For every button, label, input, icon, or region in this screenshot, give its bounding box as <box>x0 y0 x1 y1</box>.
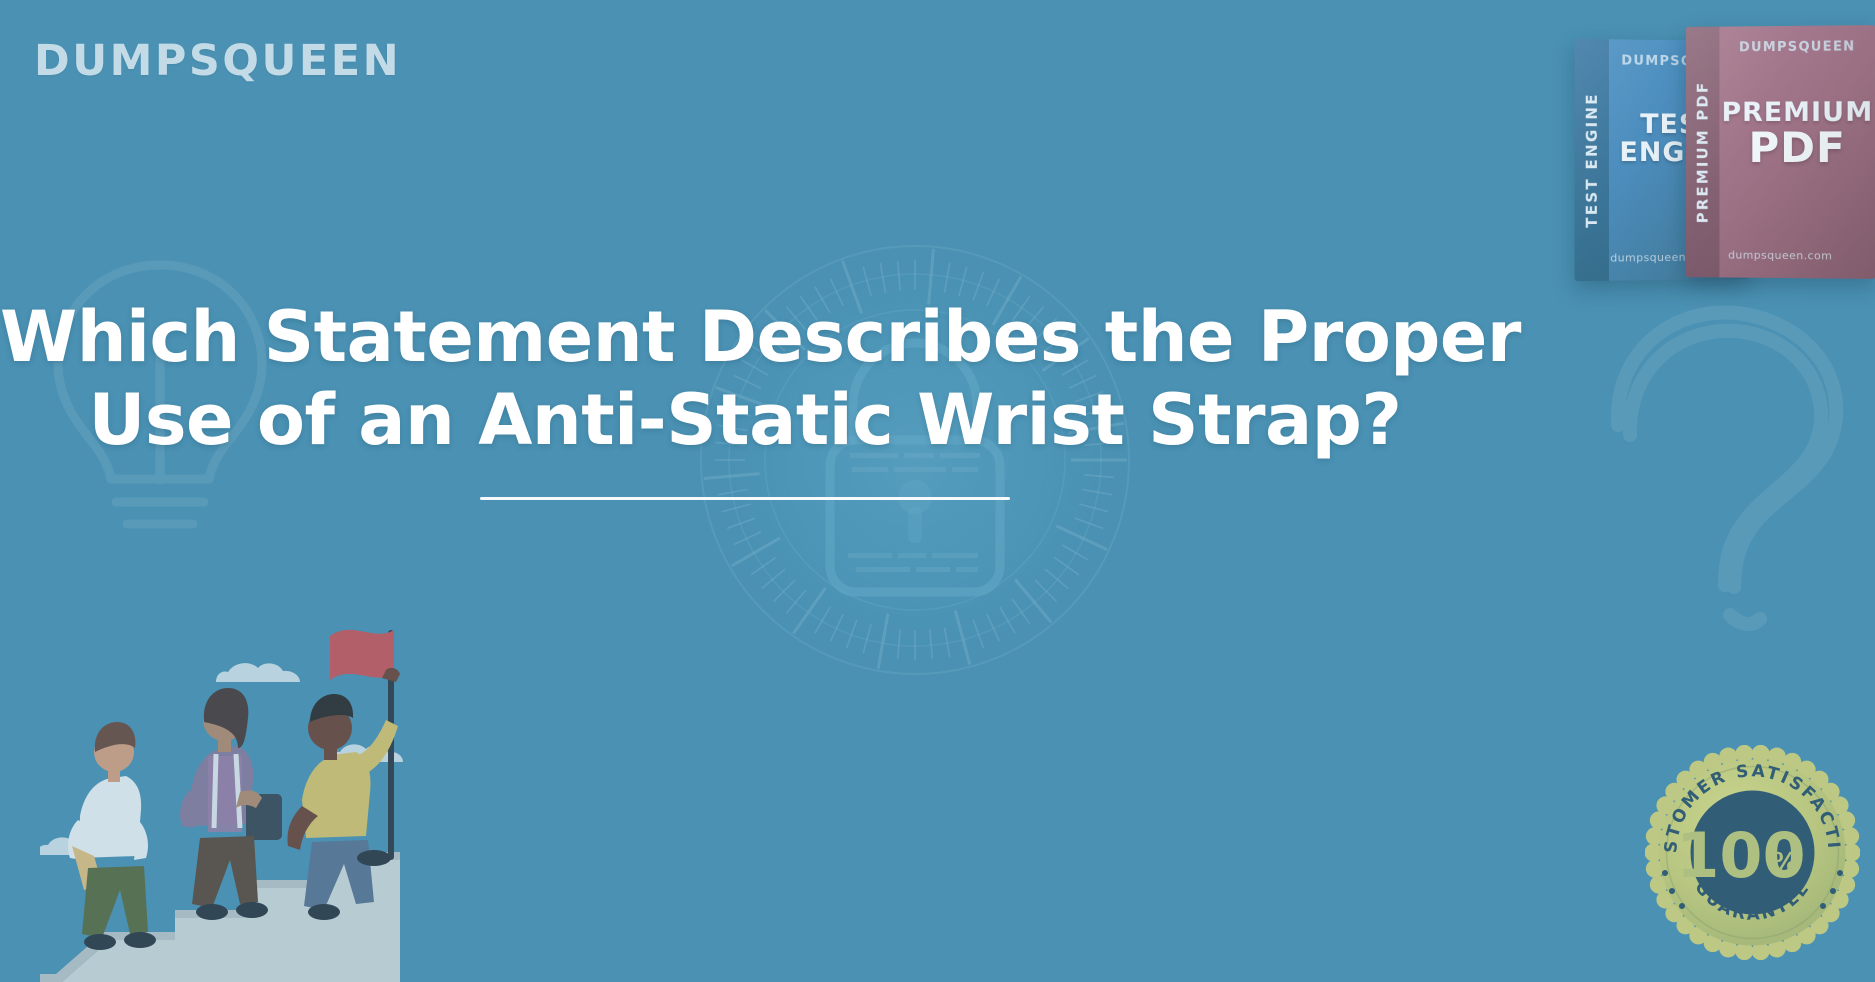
product-box-premium-pdf[interactable]: PREMIUM PDF DUMPSQUEEN PREMIUM PDF dumps… <box>1686 25 1875 279</box>
brand-logo[interactable]: DUMPSQUEEN <box>34 40 401 83</box>
team-climbing-illustration <box>40 610 440 982</box>
premium-pdf-title-line2: PDF <box>1748 127 1845 169</box>
test-engine-spine: TEST ENGINE <box>1575 39 1609 281</box>
premium-pdf-face: DUMPSQUEEN PREMIUM PDF <box>1719 25 1875 279</box>
product-boxes: TEST ENGINE DUMPSQUEEN TEST ENGINE dumps… <box>1575 18 1875 293</box>
satisfaction-guarantee-badge: CUSTOMER SATISFACTION GUARANTEE 100 % <box>1645 745 1860 960</box>
title-divider <box>480 497 1010 500</box>
premium-pdf-spine-label: PREMIUM PDF <box>1694 81 1712 224</box>
page-title: Which Statement Describes the Proper Use… <box>0 296 1490 500</box>
person-back <box>68 722 156 950</box>
banner-canvas: DUMPSQUEEN TEST ENGINE DUMPSQUEEN TEST E… <box>0 0 1875 982</box>
page-title-line-2: Use of an Anti-Static Wrist Strap? <box>0 379 1490 462</box>
test-engine-spine-label: TEST ENGINE <box>1583 92 1601 228</box>
badge-percent-unit: % <box>1772 848 1798 878</box>
premium-pdf-spine: PREMIUM PDF <box>1686 27 1720 278</box>
question-mark-icon <box>1570 285 1875 655</box>
premium-pdf-brand: DUMPSQUEEN <box>1739 39 1855 55</box>
page-title-line-1: Which Statement Describes the Proper <box>0 296 1490 379</box>
premium-pdf-url: dumpsqueen.com <box>1686 248 1875 263</box>
